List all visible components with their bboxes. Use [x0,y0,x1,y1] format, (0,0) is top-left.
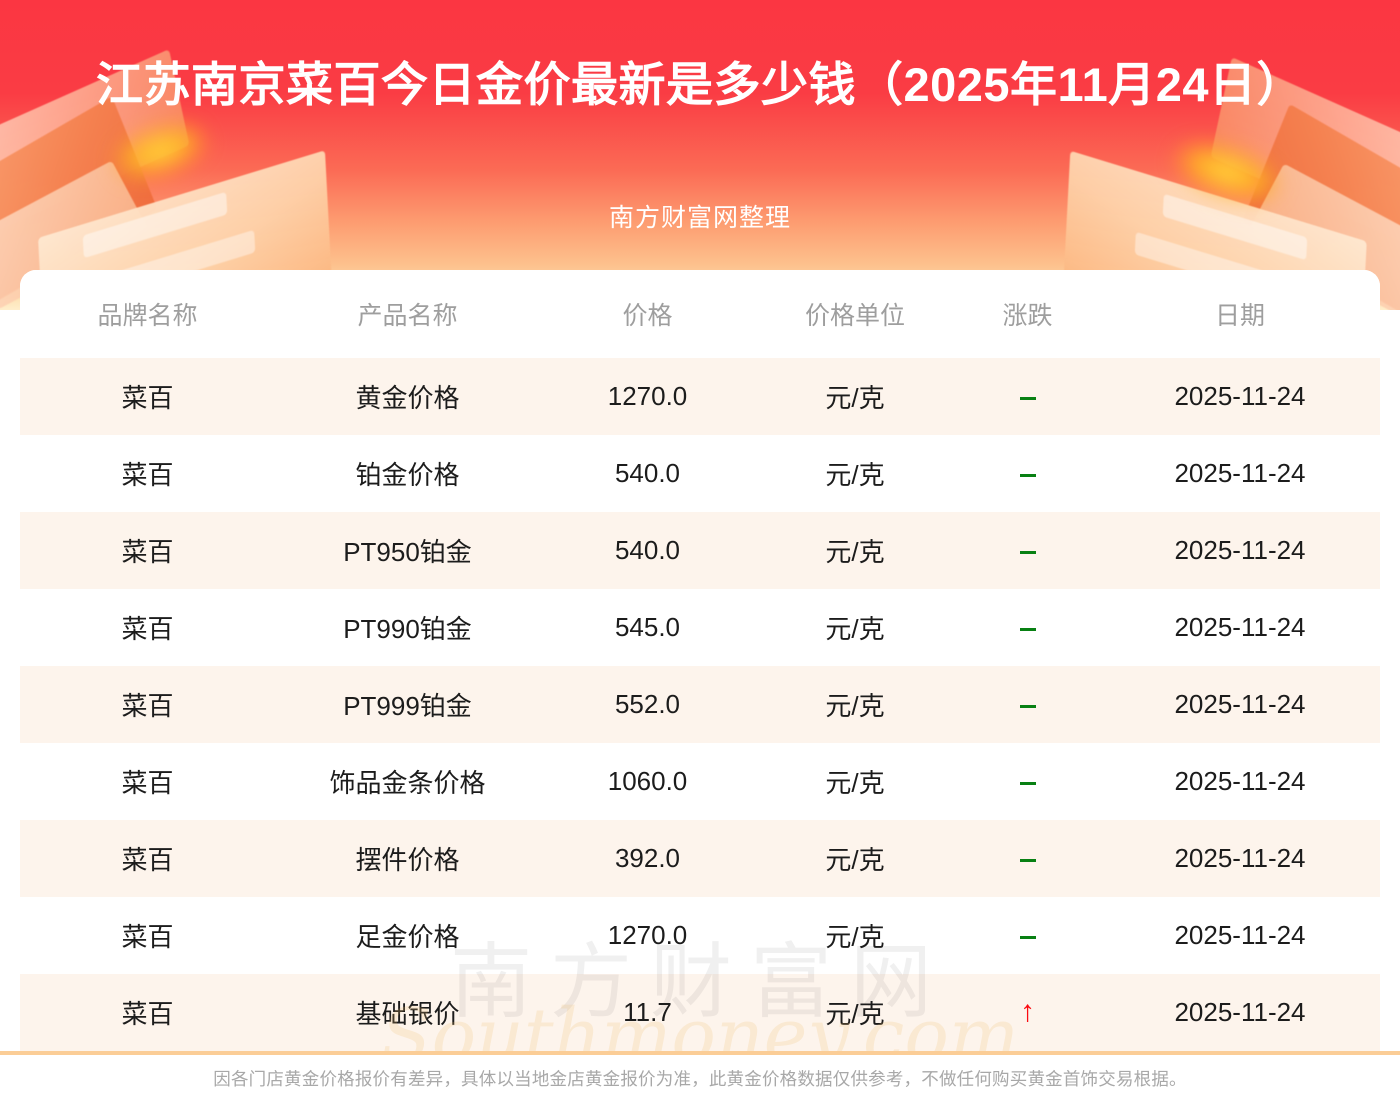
cell-unit: 元/克 [755,820,955,897]
table-header-row: 品牌名称 产品名称 价格 价格单位 涨跌 日期 [20,270,1380,358]
hero-banner: 江苏南京菜百今日金价最新是多少钱（2025年11月24日） 南方财富网整理 [0,0,1400,310]
table-row: 菜百PT990铂金545.0元/克2025-11-24 [20,589,1380,666]
cell-date: 2025-11-24 [1100,435,1380,512]
footer-disclaimer: 因各门店黄金价格报价有差异，具体以当地金店黄金报价为准，此黄金价格数据仅供参考，… [0,1066,1400,1091]
cell-product: 铂金价格 [275,435,540,512]
cell-change [955,897,1100,974]
cell-brand: 菜百 [20,666,275,743]
cell-date: 2025-11-24 [1100,358,1380,435]
cell-unit: 元/克 [755,358,955,435]
cell-change [955,820,1100,897]
hero-gradient [0,0,1400,310]
cell-brand: 菜百 [20,974,275,1051]
cell-price: 392.0 [540,820,755,897]
change-flat-dash-icon [1020,859,1036,862]
page-title: 江苏南京菜百今日金价最新是多少钱（2025年11月24日） [0,53,1400,118]
cell-product: 饰品金条价格 [275,743,540,820]
cell-unit: 元/克 [755,435,955,512]
cell-date: 2025-11-24 [1100,589,1380,666]
cell-date: 2025-11-24 [1100,743,1380,820]
table-row: 菜百铂金价格540.0元/克2025-11-24 [20,435,1380,512]
column-header-unit: 价格单位 [755,270,955,358]
cell-change: ↑ [955,974,1100,1051]
table-row: 菜百饰品金条价格1060.0元/克2025-11-24 [20,743,1380,820]
cell-change [955,589,1100,666]
change-flat-dash-icon [1020,705,1036,708]
cell-change [955,358,1100,435]
cell-price: 540.0 [540,435,755,512]
cell-change [955,743,1100,820]
table-row: 菜百足金价格1270.0元/克2025-11-24 [20,897,1380,974]
cell-price: 1270.0 [540,358,755,435]
change-flat-dash-icon [1020,474,1036,477]
cell-unit: 元/克 [755,512,955,589]
column-header-price: 价格 [540,270,755,358]
table-body: 菜百黄金价格1270.0元/克2025-11-24菜百铂金价格540.0元/克2… [20,358,1380,1051]
cell-brand: 菜百 [20,743,275,820]
cell-unit: 元/克 [755,666,955,743]
cell-date: 2025-11-24 [1100,820,1380,897]
page-subtitle: 南方财富网整理 [0,198,1400,234]
cell-price: 1270.0 [540,897,755,974]
cell-date: 2025-11-24 [1100,974,1380,1051]
table-row: 菜百PT999铂金552.0元/克2025-11-24 [20,666,1380,743]
column-header-brand: 品牌名称 [20,270,275,358]
change-flat-dash-icon [1020,397,1036,400]
column-header-date: 日期 [1100,270,1380,358]
table-row: 菜百PT950铂金540.0元/克2025-11-24 [20,512,1380,589]
cell-date: 2025-11-24 [1100,666,1380,743]
cell-change [955,435,1100,512]
cell-price: 1060.0 [540,743,755,820]
column-header-change: 涨跌 [955,270,1100,358]
cell-unit: 元/克 [755,974,955,1051]
change-up-arrow-icon: ↑ [1020,997,1035,1027]
gold-price-table: 品牌名称 产品名称 价格 价格单位 涨跌 日期 菜百黄金价格1270.0元/克2… [20,270,1380,1051]
cell-product: PT999铂金 [275,666,540,743]
cell-product: 黄金价格 [275,358,540,435]
cell-product: PT950铂金 [275,512,540,589]
cell-date: 2025-11-24 [1100,897,1380,974]
cell-change [955,512,1100,589]
cell-product: 足金价格 [275,897,540,974]
cell-price: 552.0 [540,666,755,743]
table-header: 品牌名称 产品名称 价格 价格单位 涨跌 日期 [20,270,1380,358]
cell-unit: 元/克 [755,743,955,820]
cell-product: 摆件价格 [275,820,540,897]
cell-brand: 菜百 [20,820,275,897]
cell-unit: 元/克 [755,897,955,974]
change-flat-dash-icon [1020,628,1036,631]
cell-price: 545.0 [540,589,755,666]
cell-date: 2025-11-24 [1100,512,1380,589]
change-flat-dash-icon [1020,551,1036,554]
footer-divider [0,1051,1400,1055]
table-row: 菜百黄金价格1270.0元/克2025-11-24 [20,358,1380,435]
change-flat-dash-icon [1020,782,1036,785]
cell-brand: 菜百 [20,358,275,435]
cell-brand: 菜百 [20,897,275,974]
cell-price: 540.0 [540,512,755,589]
price-table-card: 品牌名称 产品名称 价格 价格单位 涨跌 日期 菜百黄金价格1270.0元/克2… [20,270,1380,1051]
cell-unit: 元/克 [755,589,955,666]
cell-brand: 菜百 [20,435,275,512]
column-header-product: 产品名称 [275,270,540,358]
change-flat-dash-icon [1020,936,1036,939]
cell-brand: 菜百 [20,589,275,666]
cell-brand: 菜百 [20,512,275,589]
table-row: 菜百摆件价格392.0元/克2025-11-24 [20,820,1380,897]
cell-product: PT990铂金 [275,589,540,666]
cell-price: 11.7 [540,974,755,1051]
table-row: 菜百基础银价11.7元/克↑2025-11-24 [20,974,1380,1051]
cell-change [955,666,1100,743]
page-root: 江苏南京菜百今日金价最新是多少钱（2025年11月24日） 南方财富网整理 品牌… [0,0,1400,1098]
cell-product: 基础银价 [275,974,540,1051]
